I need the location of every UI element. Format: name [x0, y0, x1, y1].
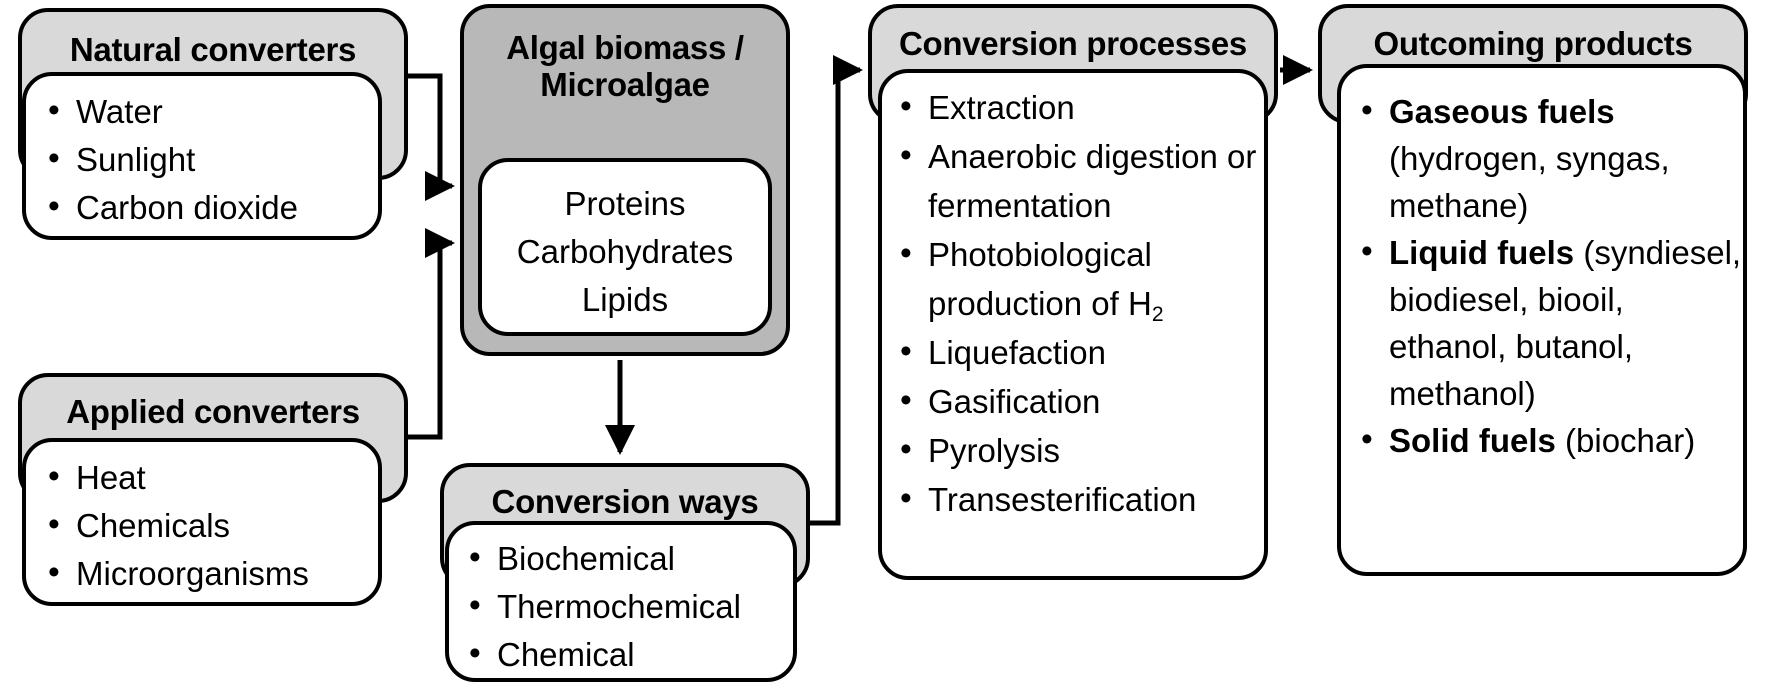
natural-converters-list: Water Sunlight Carbon dioxide: [42, 88, 378, 232]
list-item: Proteins: [482, 180, 768, 228]
natural-converters-title: Natural converters: [22, 32, 404, 69]
product-name: Liquid fuels: [1389, 234, 1574, 271]
list-item: Microorganisms: [42, 550, 378, 598]
applied-converters-title: Applied converters: [22, 394, 404, 431]
diagram-canvas: Natural converters Water Sunlight Carbon…: [0, 0, 1772, 682]
list-item: Extraction: [894, 83, 1264, 132]
list-item: Water: [42, 88, 378, 136]
algal-biomass-title-line2: Microalgae: [540, 66, 709, 103]
list-item: Anaerobic digestion or fermentation: [894, 132, 1264, 230]
conversion-processes-title: Conversion processes: [872, 26, 1274, 63]
algal-biomass-title-line1: Algal biomass /: [506, 29, 744, 66]
list-item: Carbon dioxide: [42, 184, 378, 232]
block-outcoming-products-body: Gaseous fuels (hydrogen, syngas, methane…: [1337, 64, 1747, 576]
list-item: Carbohydrates: [482, 228, 768, 276]
outcoming-products-title: Outcoming products: [1322, 26, 1744, 63]
photobiological-subscript: 2: [1152, 303, 1164, 326]
list-item: Biochemical: [463, 535, 793, 583]
product-detail: (hydrogen, syngas, methane): [1389, 140, 1670, 224]
list-item: Gaseous fuels (hydrogen, syngas, methane…: [1355, 88, 1743, 229]
connector-conversion-ways-to-processes: [810, 70, 860, 523]
list-item: Pyrolysis: [894, 426, 1264, 475]
list-item: Sunlight: [42, 136, 378, 184]
product-name: Gaseous fuels: [1389, 93, 1615, 130]
product-name: Solid fuels: [1389, 422, 1556, 459]
list-item: Thermochemical: [463, 583, 793, 631]
product-detail: (biochar): [1556, 422, 1695, 459]
photobiological-text: Photobiological production of H: [928, 236, 1152, 322]
conversion-ways-title: Conversion ways: [444, 484, 806, 521]
list-item: Chemicals: [42, 502, 378, 550]
algal-biomass-list: Proteins Carbohydrates Lipids: [482, 180, 768, 324]
list-item: Heat: [42, 454, 378, 502]
block-natural-converters-body: Water Sunlight Carbon dioxide: [22, 72, 382, 240]
list-item: Lipids: [482, 276, 768, 324]
block-applied-converters-body: Heat Chemicals Microorganisms: [22, 438, 382, 606]
list-item: Liquefaction: [894, 328, 1264, 377]
list-item: Transesterification: [894, 475, 1264, 524]
list-item: Gasification: [894, 377, 1264, 426]
list-item: Photobiological production of H2: [894, 230, 1264, 328]
algal-biomass-title: Algal biomass / Microalgae: [464, 30, 786, 104]
conversion-ways-list: Biochemical Thermochemical Chemical: [463, 535, 793, 679]
conversion-processes-list: Extraction Anaerobic digestion or fermen…: [894, 83, 1264, 524]
block-algal-biomass-body: Proteins Carbohydrates Lipids: [478, 158, 772, 336]
block-conversion-ways-body: Biochemical Thermochemical Chemical: [445, 521, 797, 682]
list-item: Liquid fuels (syndiesel, biodiesel, bioo…: [1355, 229, 1743, 417]
list-item: Chemical: [463, 631, 793, 679]
connector-natural-to-biomass: [408, 76, 452, 186]
applied-converters-list: Heat Chemicals Microorganisms: [42, 454, 378, 598]
block-conversion-processes-body: Extraction Anaerobic digestion or fermen…: [878, 69, 1268, 580]
outcoming-products-list: Gaseous fuels (hydrogen, syngas, methane…: [1355, 88, 1743, 464]
list-item: Solid fuels (biochar): [1355, 417, 1743, 464]
connector-applied-to-biomass: [408, 243, 452, 437]
